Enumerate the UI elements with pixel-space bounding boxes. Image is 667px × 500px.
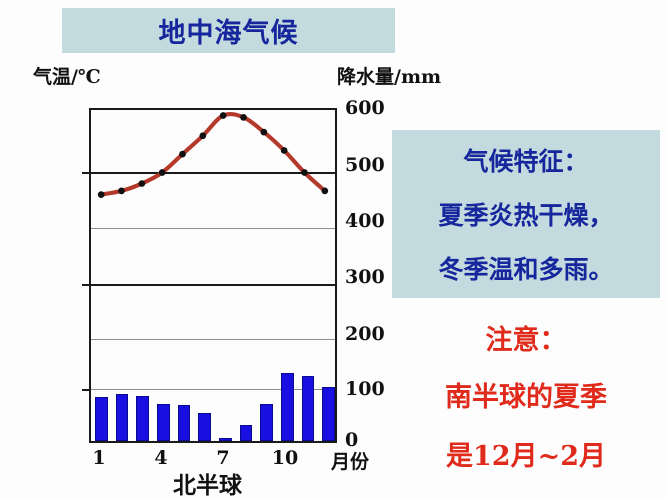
left-axis-caption: 气温/℃	[33, 62, 101, 89]
chart-title: 地中海气候	[159, 11, 299, 50]
xtick-4: 4	[154, 447, 167, 469]
note-line-2: 是12月~2月	[392, 434, 660, 473]
feature-line-2: 冬季温和多雨。	[392, 250, 660, 286]
tickmark-left-15	[82, 172, 89, 174]
right-tick-500: 500	[345, 156, 385, 175]
hemisphere-label: 北半球	[173, 466, 242, 500]
chart-title-box: 地中海气候	[62, 8, 395, 53]
x-axis-caption: 月份	[331, 447, 369, 474]
temp-marker-month-3	[138, 180, 145, 187]
temp-marker-month-4	[159, 169, 166, 176]
temp-marker-month-8	[240, 114, 247, 121]
temp-marker-month-1	[98, 191, 105, 198]
temp-marker-month-5	[179, 151, 186, 158]
note-line-1: 南半球的夏季	[392, 375, 660, 414]
plot-area	[89, 108, 337, 443]
temperature-curve	[91, 110, 335, 441]
temp-marker-month-6	[199, 132, 206, 139]
right-tick-400: 400	[345, 212, 385, 231]
feature-heading: 气候特征：	[392, 142, 660, 178]
right-tick-200: 200	[345, 325, 385, 344]
climate-feature-box: 气候特征： 夏季炎热干燥， 冬季温和多雨。	[392, 130, 660, 298]
note-heading: 注意：	[392, 318, 660, 357]
tickmark-left-m15	[82, 284, 89, 286]
xtick-10: 10	[272, 447, 298, 469]
right-axis-caption: 降水量/mm	[337, 62, 441, 89]
xtick-1: 1	[92, 447, 105, 469]
temp-marker-month-11	[301, 169, 308, 176]
tickmark-left-m45	[82, 389, 89, 391]
right-tick-300: 300	[345, 268, 385, 287]
right-tick-100: 100	[345, 380, 385, 399]
right-tick-600: 600	[345, 99, 385, 118]
temp-marker-month-12	[321, 188, 328, 195]
temp-marker-month-10	[281, 147, 288, 154]
temp-marker-month-2	[118, 188, 125, 195]
slide-root: 地中海气候 气温/℃ 降水量/mm 30 15 0 -15 -30 -45 -6…	[0, 0, 667, 500]
feature-line-1: 夏季炎热干燥，	[392, 196, 660, 232]
temp-marker-month-9	[260, 129, 267, 136]
temp-marker-month-7	[220, 112, 227, 119]
